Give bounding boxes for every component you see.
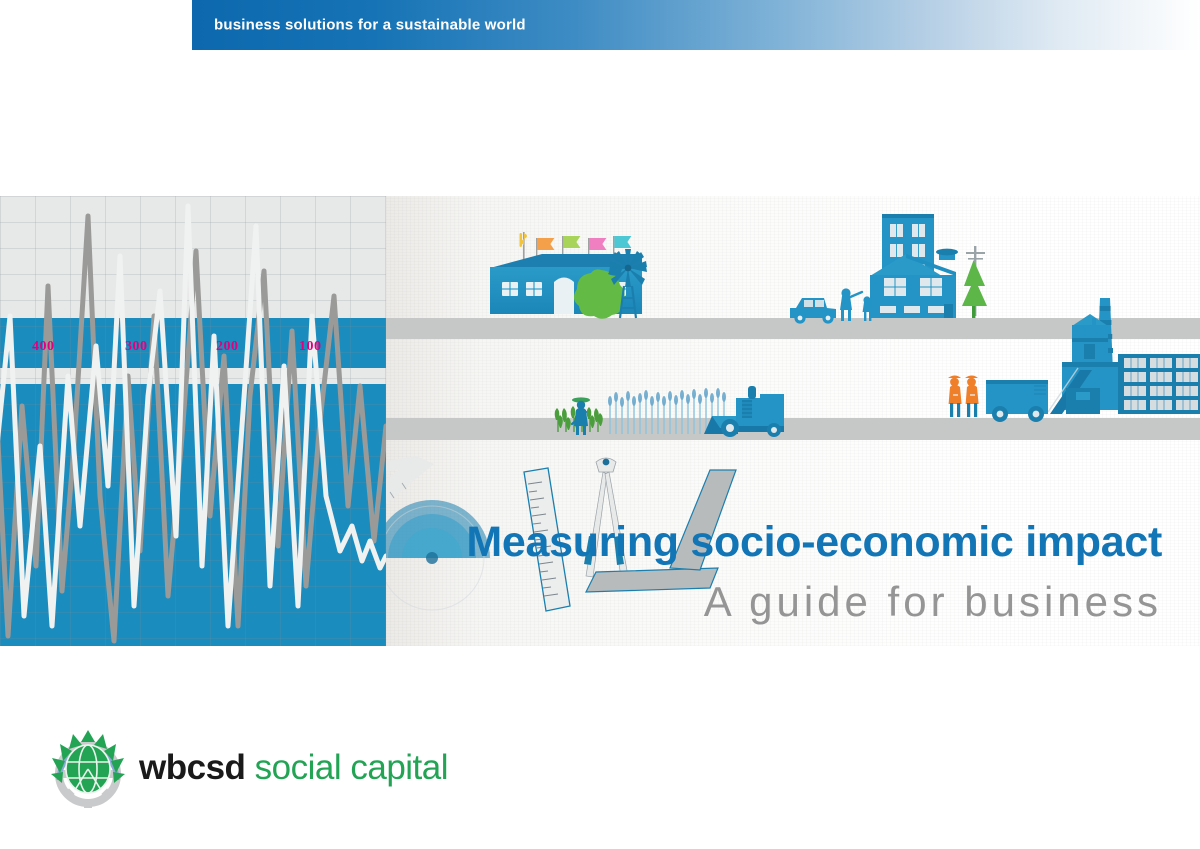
banner-tagline: business solutions for a sustainable wor… [214, 17, 526, 34]
industrial-plant-scene [942, 296, 1200, 440]
factory-block [1118, 354, 1200, 414]
cover-chart-panel: 400 300 200 100 [0, 196, 386, 646]
cover-title: Measuring socio-economic impact [466, 518, 1162, 567]
logo-word-secondary: social capital [245, 748, 448, 787]
village-school-scene [482, 224, 662, 324]
chart-tick-400: 400 [32, 339, 55, 355]
top-banner: business solutions for a sustainable wor… [192, 0, 1200, 50]
combine-harvester [704, 386, 784, 437]
worker-figure-2 [965, 376, 979, 418]
chart-tick-100: 100 [299, 339, 322, 355]
chart-lines [0, 196, 386, 646]
delivery-truck [986, 380, 1048, 422]
wbcsd-logo[interactable]: wbcsd social capital [45, 726, 405, 812]
farm-harvest-scene [552, 372, 802, 442]
adult-figure [840, 288, 862, 321]
wbcsd-wordmark: wbcsd social capital [139, 748, 448, 788]
worker-figure-1 [948, 376, 962, 418]
chart-tick-300: 300 [125, 339, 148, 355]
car [790, 298, 836, 324]
logo-word-primary: wbcsd [139, 748, 245, 787]
globe-icon [66, 745, 110, 793]
child-figure [863, 296, 872, 321]
chart-tick-200: 200 [216, 339, 239, 355]
wbcsd-globe-gear-logo-icon [45, 726, 131, 812]
cover-subtitle: A guide for business [704, 578, 1162, 626]
